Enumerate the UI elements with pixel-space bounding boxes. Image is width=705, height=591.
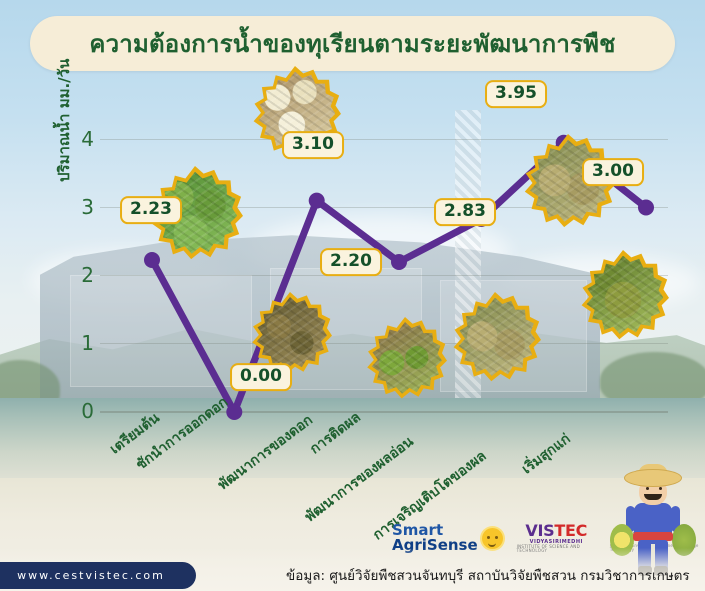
data-point-3 — [391, 254, 407, 270]
data-label-0: 2.23 — [120, 196, 182, 224]
logo-vistec-t: TEC — [554, 521, 587, 540]
y-axis-label: ปริมาณน้ำ มม./วัน — [52, 0, 76, 182]
data-label-3: 2.20 — [320, 248, 382, 276]
data-source-text: ข้อมูล: ศูนย์วิจัยพืชสวนจันทบุรี สถาบันว… — [286, 564, 690, 586]
page-title: ความต้องการน้ำของทุเรียนตามระยะพัฒนาการพ… — [89, 24, 615, 63]
data-label-4: 2.83 — [434, 198, 496, 226]
data-label-5: 3.95 — [485, 80, 547, 108]
infographic-root: ความต้องการน้ำของทุเรียนตามระยะพัฒนาการพ… — [0, 0, 705, 591]
y-tick-3: 3 — [68, 197, 94, 217]
title-banner: ความต้องการน้ำของทุเรียนตามระยะพัฒนาการพ… — [30, 16, 675, 71]
website-url-text: www.cestvistec.com — [17, 569, 165, 582]
y-tick-2: 2 — [68, 265, 94, 285]
y-tick-4: 4 — [68, 129, 94, 149]
x-tick-label-2: พัฒนาการของดอก — [213, 410, 317, 496]
data-point-0 — [144, 252, 160, 268]
chart-container: ปริมาณน้ำ มม./วัน 4 3 2 1 0 — [0, 72, 705, 422]
data-point-2 — [309, 193, 325, 209]
y-tick-1: 1 — [68, 333, 94, 353]
data-label-2: 3.10 — [282, 131, 344, 159]
data-label-6: 3.00 — [582, 158, 644, 186]
x-tick-label-6: เริ่มสุกแก่ — [517, 428, 575, 479]
straw-hat-icon — [625, 470, 681, 486]
data-point-6 — [638, 200, 654, 216]
data-label-1: 0.00 — [230, 363, 292, 391]
sun-icon — [482, 528, 503, 549]
logo-vistec-v: VIS — [525, 521, 554, 540]
website-url-badge[interactable]: www.cestvistec.com — [0, 562, 196, 589]
